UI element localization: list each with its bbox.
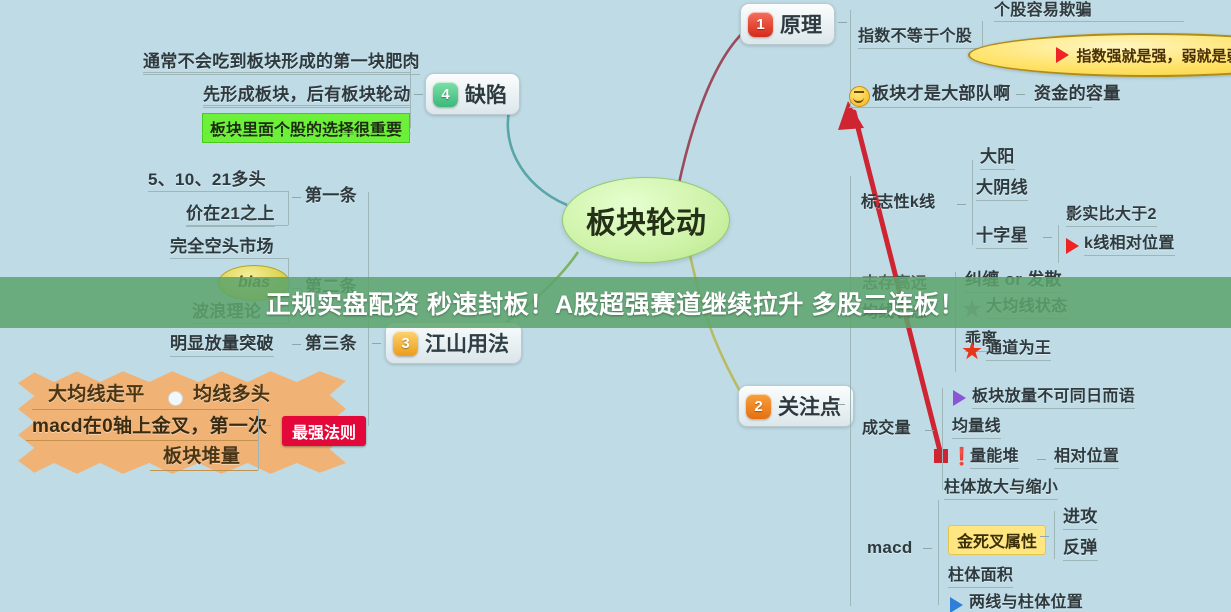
volume-note: 板块放量不可同日而语	[972, 388, 1135, 409]
bullet-dot-icon	[168, 391, 183, 406]
exclamation-icon: ❗	[951, 448, 972, 465]
kline-item-3: 十字星	[976, 226, 1028, 249]
topic-defect-badge: 4	[433, 82, 458, 107]
macd-cross-child-1: 进攻	[1063, 507, 1098, 530]
strongest-link-2	[26, 440, 258, 441]
principle-link-1	[994, 21, 1184, 22]
strongest-to-usage	[368, 344, 369, 426]
strongest-item-2: 均线多头	[193, 384, 270, 406]
rule1-link-2	[186, 225, 288, 226]
rule3-label: 第三条	[305, 334, 357, 354]
kline-label: 标志性k线	[861, 194, 935, 212]
defect-dash	[414, 94, 423, 95]
defect-link-2	[203, 105, 411, 106]
kline-dash	[957, 204, 966, 205]
kline-spine	[972, 160, 973, 245]
topic-usage[interactable]: 3 江山用法	[385, 322, 522, 364]
rule1-item-1: 5、10、21多头	[148, 170, 266, 190]
principle-item-4: 板块才是大部队啊	[872, 84, 1010, 104]
principle-link-2	[858, 48, 982, 49]
topic-usage-badge: 3	[393, 331, 418, 356]
volume-item-2: 量能堆	[970, 448, 1019, 469]
macd-item-2: 两线与柱体位置	[969, 594, 1083, 612]
play-triangle-icon	[1056, 47, 1069, 63]
principle-item-3-label: 指数强就是强，弱就是弱	[1076, 45, 1231, 66]
topic-principle-label: 原理	[780, 9, 822, 39]
macd-cross-dash	[1040, 536, 1049, 537]
principle-item-5: 资金的容量	[1034, 84, 1121, 104]
strongest-dash	[262, 425, 271, 426]
defect-link-3	[202, 133, 411, 134]
topic-focus-badge: 2	[746, 394, 771, 419]
rule3-item-1: 明显放量突破	[170, 334, 274, 357]
kline-item-1: 大阳	[980, 147, 1015, 170]
volume-item-1: 均量线	[952, 418, 1001, 439]
ma-item-4: 通道为王	[986, 340, 1051, 361]
topic-principle[interactable]: 1 原理	[740, 3, 835, 45]
play-triangle-blue-icon	[950, 597, 963, 612]
rule1-label: 第一条	[305, 186, 357, 206]
topic-defect-label: 缺陷	[465, 79, 507, 109]
central-topic[interactable]: 板块轮动	[562, 177, 730, 263]
kline-item-2: 大阴线	[976, 178, 1028, 201]
volume-item-4: 柱体放大与缩小	[944, 479, 1058, 500]
defect-spine	[410, 60, 411, 128]
mindmap-canvas: 通常不会吃到板块形成的第一块肥肉 先形成板块，后有板块轮动 板块里面个股的选择很…	[0, 0, 1231, 612]
strongest-item-3: macd在0轴上金叉，第一次	[32, 416, 267, 438]
strongest-item-4: 板块堆量	[163, 446, 240, 468]
defect-link-1	[143, 72, 411, 73]
macd-spine	[938, 500, 939, 605]
promo-banner: 正规实盘配资 秒速封板！A股超强赛道继续拉升 多股二连板！	[0, 277, 1231, 328]
macd-dash	[923, 548, 932, 549]
central-topic-label: 板块轮动	[586, 198, 706, 242]
principle-link-4	[849, 107, 1092, 108]
usage-dash	[372, 343, 381, 344]
focus-spine	[850, 176, 851, 606]
macd-label: macd	[867, 538, 913, 558]
topic-principle-badge: 1	[748, 12, 773, 37]
volume-spine	[942, 388, 943, 490]
rule3-dash	[292, 344, 301, 345]
topic-focus-label: 关注点	[778, 391, 841, 421]
strongest-link-1	[32, 409, 258, 410]
promo-banner-text: 正规实盘配资 秒速封板！A股超强赛道继续拉升 多股二连板！	[266, 285, 965, 321]
play-triangle-red-icon	[1066, 238, 1079, 254]
cross-child-2: k线相对位置	[1084, 235, 1175, 256]
defect-item-3-highlight: 板块里面个股的选择很重要	[202, 113, 410, 143]
rule2-item-1: 完全空头市场	[170, 237, 274, 257]
principle-dash-2	[1016, 94, 1025, 95]
principle-item-2: 指数不等于个股	[858, 28, 972, 49]
principle-sub-dash	[962, 37, 971, 38]
strongest-link-3	[150, 470, 258, 471]
macd-item-1: 柱体面积	[948, 567, 1013, 588]
rule1-dash	[292, 197, 301, 198]
play-triangle-purple-icon	[953, 390, 966, 406]
kline-cross-dash	[1043, 237, 1052, 238]
rule2-link-1	[170, 258, 288, 259]
rule1-spine	[288, 191, 289, 225]
macd-cross-child-2: 反弹	[1063, 538, 1098, 561]
principle-dash	[838, 22, 847, 23]
strongest-item-1: 大均线走平	[48, 384, 145, 406]
macd-cross-attr: 金死叉属性	[948, 525, 1046, 555]
topic-usage-label: 江山用法	[425, 328, 509, 358]
kline-cross-spine	[1058, 225, 1059, 263]
principle-item-1: 个股容易欺骗	[994, 2, 1092, 20]
volume-dash	[925, 430, 934, 431]
rule1-item-2: 价在21之上	[186, 204, 275, 227]
topic-defect[interactable]: 4 缺陷	[425, 73, 520, 115]
cross-child-1: 影实比大于2	[1066, 206, 1157, 227]
macd-cross-spine	[1054, 511, 1055, 559]
volume-item-dash	[1037, 459, 1046, 460]
volume-item-3: 相对位置	[1054, 448, 1119, 469]
volume-label: 成交量	[862, 420, 911, 438]
focus-dash	[836, 404, 845, 405]
rule1-link-1	[148, 191, 288, 192]
topic-focus[interactable]: 2 关注点	[738, 385, 854, 427]
strongest-spine	[258, 409, 259, 470]
smiley-icon	[849, 86, 870, 107]
strongest-rule-badge: 最强法则	[282, 416, 366, 446]
